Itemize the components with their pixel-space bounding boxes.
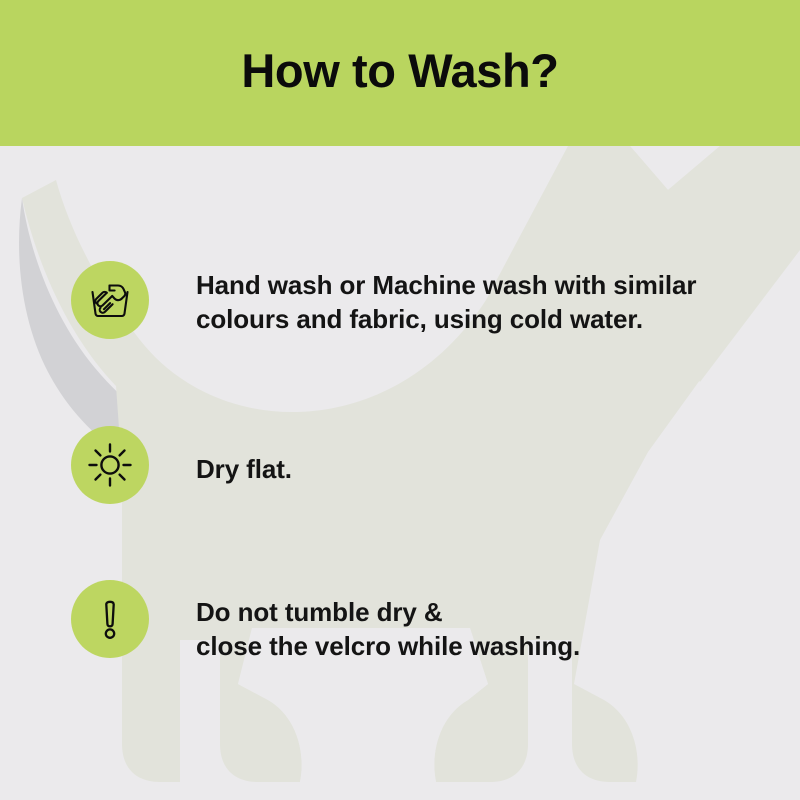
- sun-dry-flat-badge: [71, 426, 149, 504]
- sun-dry-flat-icon: [86, 441, 134, 489]
- header-band: How to Wash?: [0, 0, 800, 146]
- instruction-text: Hand wash or Machine wash with similar c…: [196, 269, 756, 337]
- hand-wash-icon: [85, 275, 135, 325]
- hand-wash-badge: [71, 261, 149, 339]
- instructions-list: Hand wash or Machine wash with similar c…: [0, 146, 800, 800]
- exclamation-warning-icon: [87, 596, 133, 642]
- exclamation-warning-badge: [71, 580, 149, 658]
- page-title: How to Wash?: [241, 47, 558, 100]
- how-to-wash-card: How to Wash?: [0, 0, 800, 800]
- instruction-text: Dry flat.: [196, 453, 756, 487]
- instruction-text: Do not tumble dry & close the velcro whi…: [196, 596, 756, 664]
